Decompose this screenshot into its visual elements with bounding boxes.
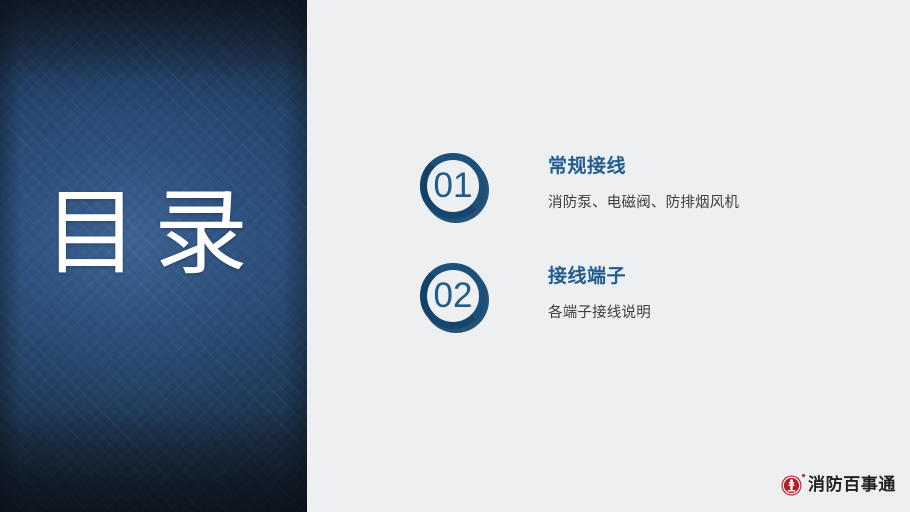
slide-canvas: 目录 01 常规接线 消防泵、电磁阀、防排烟风机 02 接线端子 各端子接线说明: [0, 0, 910, 512]
toc-heading[interactable]: 接线端子: [548, 265, 888, 289]
toc-number-label: 02: [427, 270, 479, 322]
toc-number-badge-01: 01: [420, 153, 486, 219]
toc-item-01[interactable]: 01 常规接线 消防泵、电磁阀、防排烟风机: [420, 153, 890, 233]
title-panel: 目录: [0, 0, 307, 512]
toc-text-block-02: 接线端子 各端子接线说明: [548, 265, 888, 323]
brand-logo[interactable]: 消防百事通: [781, 472, 896, 498]
toc-subtitle: 消防泵、电磁阀、防排烟风机: [548, 193, 888, 213]
fire-hydrant-icon: [781, 475, 802, 496]
toc-number-badge-02: 02: [420, 263, 486, 329]
toc-text-block-01: 常规接线 消防泵、电磁阀、防排烟风机: [548, 155, 888, 213]
logo-text: 消防百事通: [808, 475, 896, 495]
content-area: 01 常规接线 消防泵、电磁阀、防排烟风机 02 接线端子 各端子接线说明: [307, 0, 910, 512]
toc-heading[interactable]: 常规接线: [548, 155, 888, 179]
logo-trademark-dot: [802, 474, 805, 477]
toc-subtitle: 各端子接线说明: [548, 303, 888, 323]
page-title: 目录: [44, 180, 284, 286]
toc-number-label: 01: [427, 160, 479, 212]
toc-item-02[interactable]: 02 接线端子 各端子接线说明: [420, 263, 890, 343]
